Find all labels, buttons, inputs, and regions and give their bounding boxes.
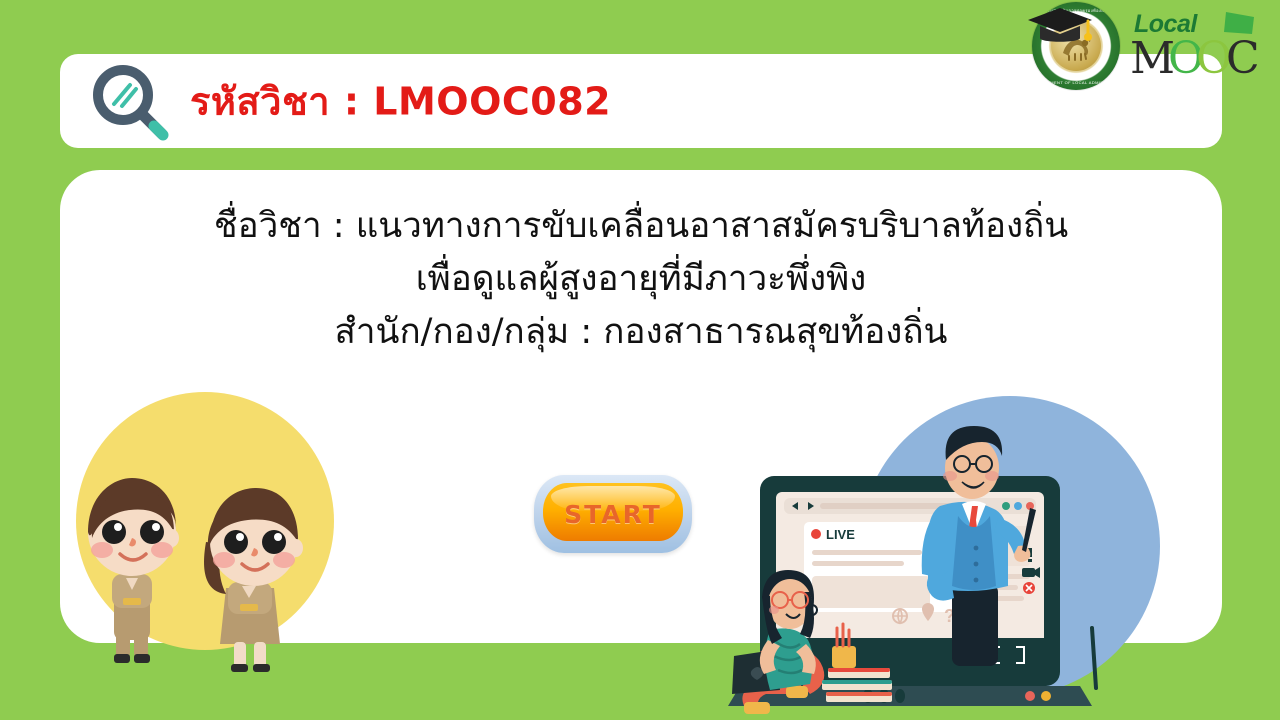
graduation-cap-icon <box>1024 2 1096 46</box>
local-mooc-logo: กรมส่งเสริมการปกครองท้องถิ่น DEPARTMENT … <box>1022 0 1272 98</box>
course-title-line-1: ชื่อวิชา : แนวทางการขับเคลื่อนอาสาสมัครบ… <box>60 200 1222 253</box>
mooc-letter-c: C <box>1226 36 1260 82</box>
course-title-line-2: เพื่อดูแลผู้สูงอายุที่มีภาวะพึ่งพิง <box>60 253 1222 306</box>
magnifier-icon <box>88 60 172 144</box>
course-banner-slide: รหัสวิชา : LMOOC082 กรมส่งเสริมการปกครอง… <box>0 0 1280 720</box>
officials-illustration <box>68 392 368 692</box>
local-mooc-wordmark: Local M O O C <box>1130 10 1262 90</box>
course-title-line-3: สำนัก/กอง/กลุ่ม : กองสาธารณสุขท้องถิ่น <box>60 306 1222 359</box>
course-title-block: ชื่อวิชา : แนวทางการขับเคลื่อนอาสาสมัครบ… <box>60 200 1222 359</box>
elearning-scene: LIVE ? <box>700 398 1120 720</box>
live-badge-label: LIVE <box>826 527 855 542</box>
course-code-text: รหัสวิชา : LMOOC082 <box>190 71 611 132</box>
start-button-label: START <box>534 475 692 553</box>
start-button[interactable]: START <box>534 475 692 553</box>
seal-english-text: DEPARTMENT OF LOCAL ADMINISTRATION <box>1032 80 1120 85</box>
officials-figures <box>68 392 368 692</box>
department-seal: กรมส่งเสริมการปกครองท้องถิ่น DEPARTMENT … <box>1028 0 1124 94</box>
elearning-illustration: LIVE ? <box>700 398 1120 720</box>
wordmark-mooc-text: M O O C <box>1130 36 1262 82</box>
